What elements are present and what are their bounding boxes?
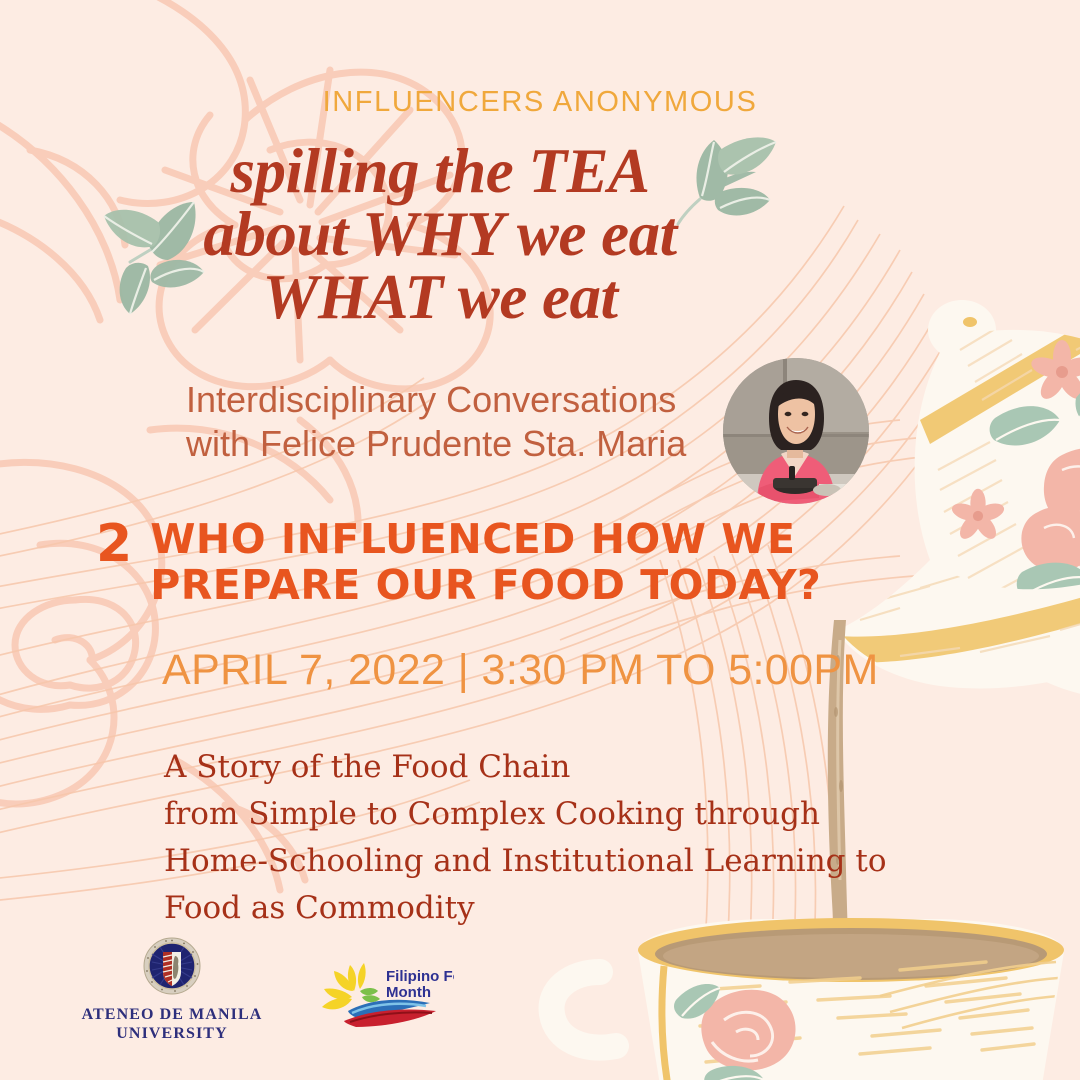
headline-line-3: WHAT we eat	[130, 266, 750, 329]
subtitle-line-2: with Felice Prudente Sta. Maria	[186, 422, 716, 466]
speaker-portrait	[723, 358, 869, 504]
subtitle: Interdisciplinary Conversations with Fel…	[186, 378, 716, 466]
description-line-1: A Story of the Food Chain	[164, 744, 954, 791]
subtitle-line-1: Interdisciplinary Conversations	[186, 378, 716, 422]
logo-ateneo-de-manila-university: ATENEO DE MANILA UNIVERSITY	[72, 936, 272, 1044]
session-number: 2	[96, 517, 132, 570]
ffm-text-line-1: Filipino Food	[386, 968, 454, 985]
logo-filipino-food-month: Filipino Food Month	[304, 947, 452, 1032]
speaker-portrait-image	[723, 358, 869, 504]
headline-line-1: spilling the TEA	[130, 140, 750, 203]
session-question-line-2: PREPARE OUR FOOD TODAY?	[150, 563, 821, 609]
description-line-4: Food as Commodity	[164, 885, 954, 932]
ateneo-logo-text: ATENEO DE MANILA UNIVERSITY	[72, 1006, 272, 1044]
headline-line-2: about WHY we eat	[130, 203, 750, 266]
session-question-block: 2 WHO INFLUENCED HOW WE PREPARE OUR FOOD…	[96, 517, 886, 609]
logo-row: ATENEO DE MANILA UNIVERSITY	[72, 936, 452, 1044]
filipino-food-month-logo-icon: Filipino Food Month	[304, 947, 454, 1027]
session-question-line-1: WHO INFLUENCED HOW WE	[150, 517, 821, 563]
headline: spilling the TEA about WHY we eat WHAT w…	[130, 140, 750, 329]
ateneo-logo-text-line-1: ATENEO DE MANILA	[72, 1006, 272, 1025]
ateneo-logo-text-line-2: UNIVERSITY	[72, 1025, 272, 1044]
eyebrow-label: INFLUENCERS ANONYMOUS	[0, 86, 1080, 119]
description-line-2: from Simple to Complex Cooking through	[164, 791, 954, 838]
poster-canvas: INFLUENCERS ANONYMOUS spilling the TEA a…	[0, 0, 1080, 1080]
event-description: A Story of the Food Chain from Simple to…	[164, 744, 954, 932]
ffm-text-line-2: Month	[386, 984, 431, 1001]
ateneo-seal-icon	[112, 936, 232, 998]
session-question: WHO INFLUENCED HOW WE PREPARE OUR FOOD T…	[150, 517, 821, 609]
event-datetime: APRIL 7, 2022 | 3:30 PM TO 5:00PM	[162, 646, 879, 695]
description-line-3: Home-Schooling and Institutional Learnin…	[164, 838, 954, 885]
